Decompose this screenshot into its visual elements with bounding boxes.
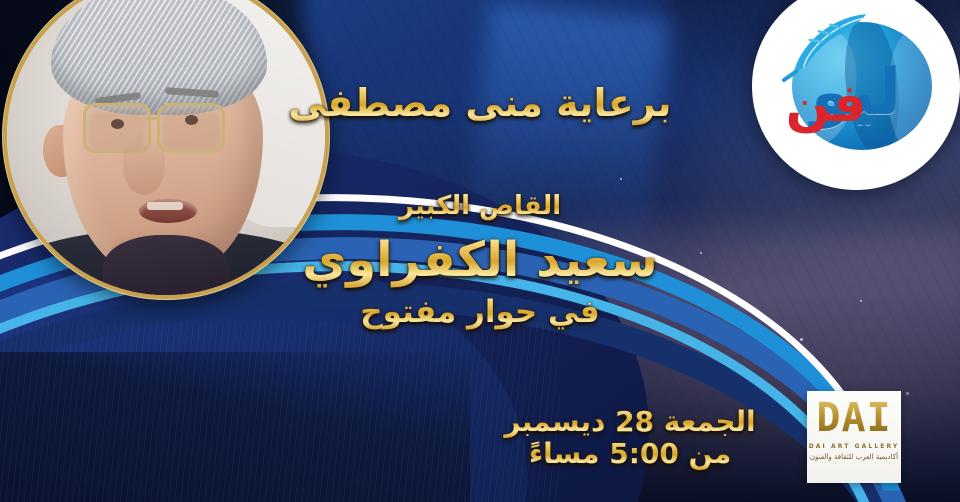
event-date: الجمعة 28 ديسمبر xyxy=(470,405,790,439)
gallery-monogram: DAI xyxy=(816,396,891,440)
brand-logo-arabic-mark-red: فن xyxy=(770,74,882,134)
event-poster: برعاية منى مصطفى القاص الكبير سعيد الكفر… xyxy=(0,0,960,502)
gallery-logo-dai[interactable]: DAI DAI ART GALLERY أكاديمية العرب للثقا… xyxy=(807,391,901,483)
gallery-name-latin: DAI ART GALLERY xyxy=(809,443,900,450)
guest-title-kicker: القاص الكبير xyxy=(0,192,960,222)
background-speck xyxy=(620,178,622,180)
gallery-name-arabic: أكاديمية العرب للثقافة والفنون xyxy=(810,453,898,461)
event-subtitle: في حوار مفتوح xyxy=(0,294,960,331)
guest-name: سعيد الكفراوي xyxy=(0,232,960,289)
event-time: من 5:00 مساءً xyxy=(470,437,790,471)
portrait-nose xyxy=(123,137,165,195)
background-speck xyxy=(800,338,803,341)
background-speck xyxy=(906,392,909,395)
